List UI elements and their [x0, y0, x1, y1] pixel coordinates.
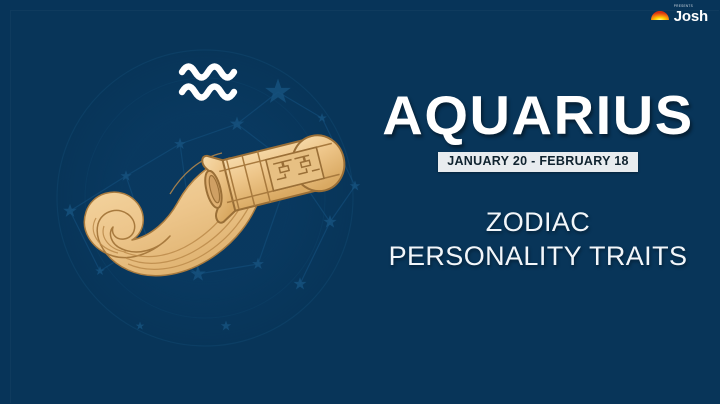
logo-wordmark: Josh — [674, 9, 708, 24]
josh-logo[interactable]: PRESENTS Josh — [650, 5, 708, 24]
date-range-wrapper: JANUARY 20 - FEBRUARY 18 — [368, 152, 708, 172]
date-range-badge: JANUARY 20 - FEBRUARY 18 — [438, 152, 638, 172]
zodiac-text-block: AQUARIUS JANUARY 20 - FEBRUARY 18 ZODIAC… — [368, 88, 708, 273]
subtitle-line-2: PERSONALITY TRAITS — [368, 239, 708, 273]
aquarius-waves-icon — [176, 56, 246, 106]
josh-logo-text: PRESENTS Josh — [674, 5, 708, 24]
subtitle-line-1: ZODIAC — [368, 205, 708, 239]
water-bearer-urn — [58, 128, 358, 363]
urn-icon — [198, 128, 351, 224]
subtitle: ZODIAC PERSONALITY TRAITS — [368, 205, 708, 273]
sunrise-icon — [650, 7, 670, 21]
page-title: AQUARIUS — [365, 88, 712, 143]
poster-canvas: AQUARIUS JANUARY 20 - FEBRUARY 18 ZODIAC… — [0, 0, 720, 404]
